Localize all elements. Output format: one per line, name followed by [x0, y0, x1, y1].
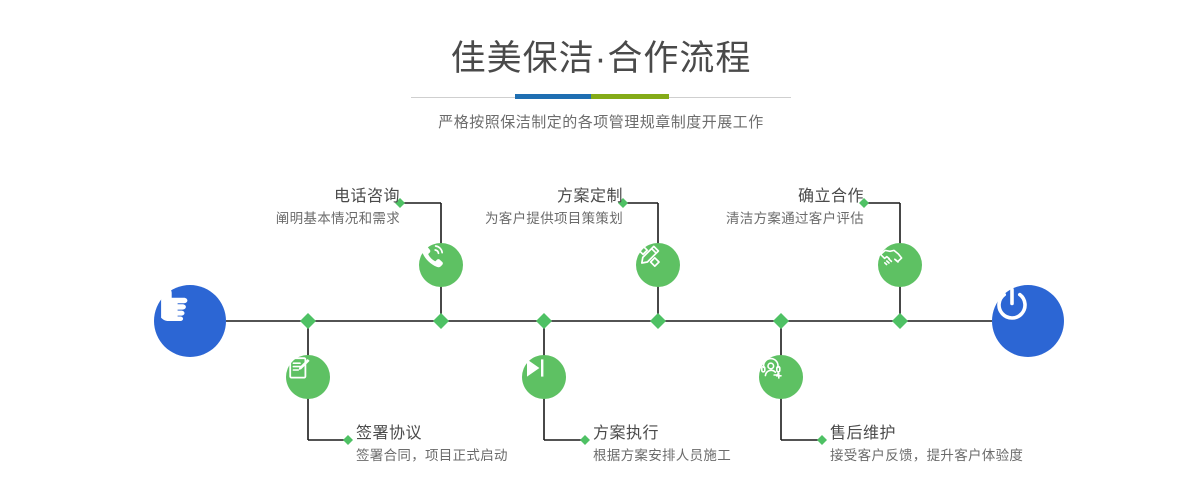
- step-icon-1[interactable]: [419, 243, 463, 287]
- diamond-marker-spine-3: [536, 313, 552, 329]
- diamond-marker-label-2: [343, 435, 353, 445]
- step-icon-6[interactable]: [759, 355, 803, 399]
- step-title-6: 售后维护: [830, 423, 1190, 445]
- step-icon-2[interactable]: [286, 355, 330, 399]
- diamond-marker-spine-1: [300, 313, 316, 329]
- diamond-marker-spine-4: [650, 313, 666, 329]
- step-icon-3[interactable]: [636, 243, 680, 287]
- diamond-marker-spine-6: [892, 313, 908, 329]
- step-icon-5[interactable]: [878, 243, 922, 287]
- step-label-5: 确立合作 清洁方案通过客户评估: [504, 186, 864, 229]
- step-icon-4[interactable]: [522, 355, 566, 399]
- step-desc-5: 清洁方案通过客户评估: [504, 208, 864, 229]
- timeline-start-endpoint[interactable]: [154, 285, 226, 357]
- step-title-5: 确立合作: [504, 186, 864, 208]
- step-desc-6: 接受客户反馈，提升客户体验度: [830, 445, 1190, 466]
- timeline-end-endpoint[interactable]: [992, 285, 1064, 357]
- diamond-marker-spine-2: [433, 313, 449, 329]
- process-timeline: 电话咨询 阐明基本情况和需求 签署协议 签署合同，项目正式启动: [0, 0, 1202, 502]
- diamond-marker-spine-5: [773, 313, 789, 329]
- step-label-6: 售后维护 接受客户反馈，提升客户体验度: [830, 423, 1190, 466]
